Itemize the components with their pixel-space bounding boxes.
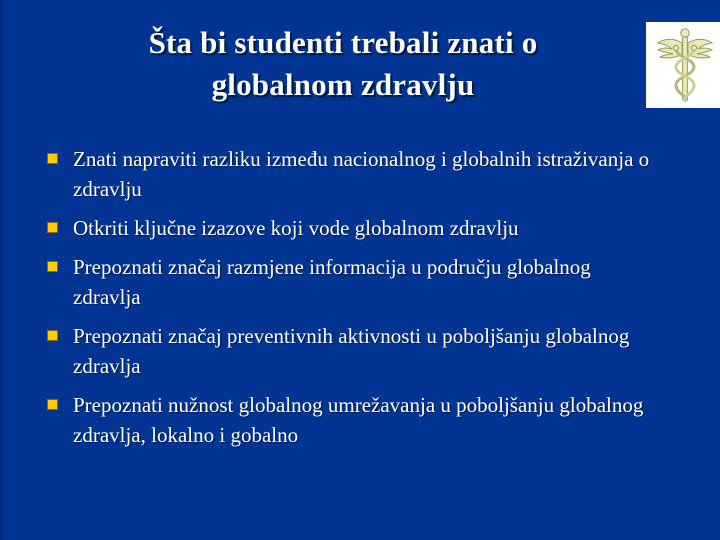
logo-card <box>646 22 720 108</box>
bullet-square-icon <box>47 153 58 164</box>
list-item: Znati napraviti razliku između nacionaln… <box>43 144 708 204</box>
bullet-square-icon <box>47 261 58 272</box>
caduceus-icon <box>646 25 720 105</box>
slide-title: Šta bi studenti trebali znati o globalno… <box>43 22 643 106</box>
list-item-label: Otkriti ključne izazove koji vode global… <box>73 213 708 243</box>
list-item-label: Prepoznati značaj razmjene informacija u… <box>73 252 633 312</box>
list-item-label: Znati napraviti razliku između nacionaln… <box>73 144 698 204</box>
list-item: Prepoznati značaj razmjene informacija u… <box>43 252 708 312</box>
bullet-square-icon <box>47 399 58 410</box>
title-line-2: globalnom zdravlju <box>43 64 643 106</box>
title-line-1: Šta bi studenti trebali znati o <box>43 22 643 64</box>
list-item: Prepoznati nužnost globalnog umrežavanja… <box>43 390 708 450</box>
bullet-square-icon <box>47 222 58 233</box>
bullet-list: Znati napraviti razliku između nacionaln… <box>43 144 708 459</box>
list-item: Prepoznati značaj preventivnih aktivnost… <box>43 321 708 381</box>
bullet-square-icon <box>47 330 58 341</box>
list-item-label: Prepoznati nužnost globalnog umrežavanja… <box>73 390 708 450</box>
list-item: Otkriti ključne izazove koji vode global… <box>43 213 708 243</box>
presentation-slide: Šta bi studenti trebali znati o globalno… <box>0 0 720 540</box>
list-item-label: Prepoznati značaj preventivnih aktivnost… <box>73 321 693 381</box>
